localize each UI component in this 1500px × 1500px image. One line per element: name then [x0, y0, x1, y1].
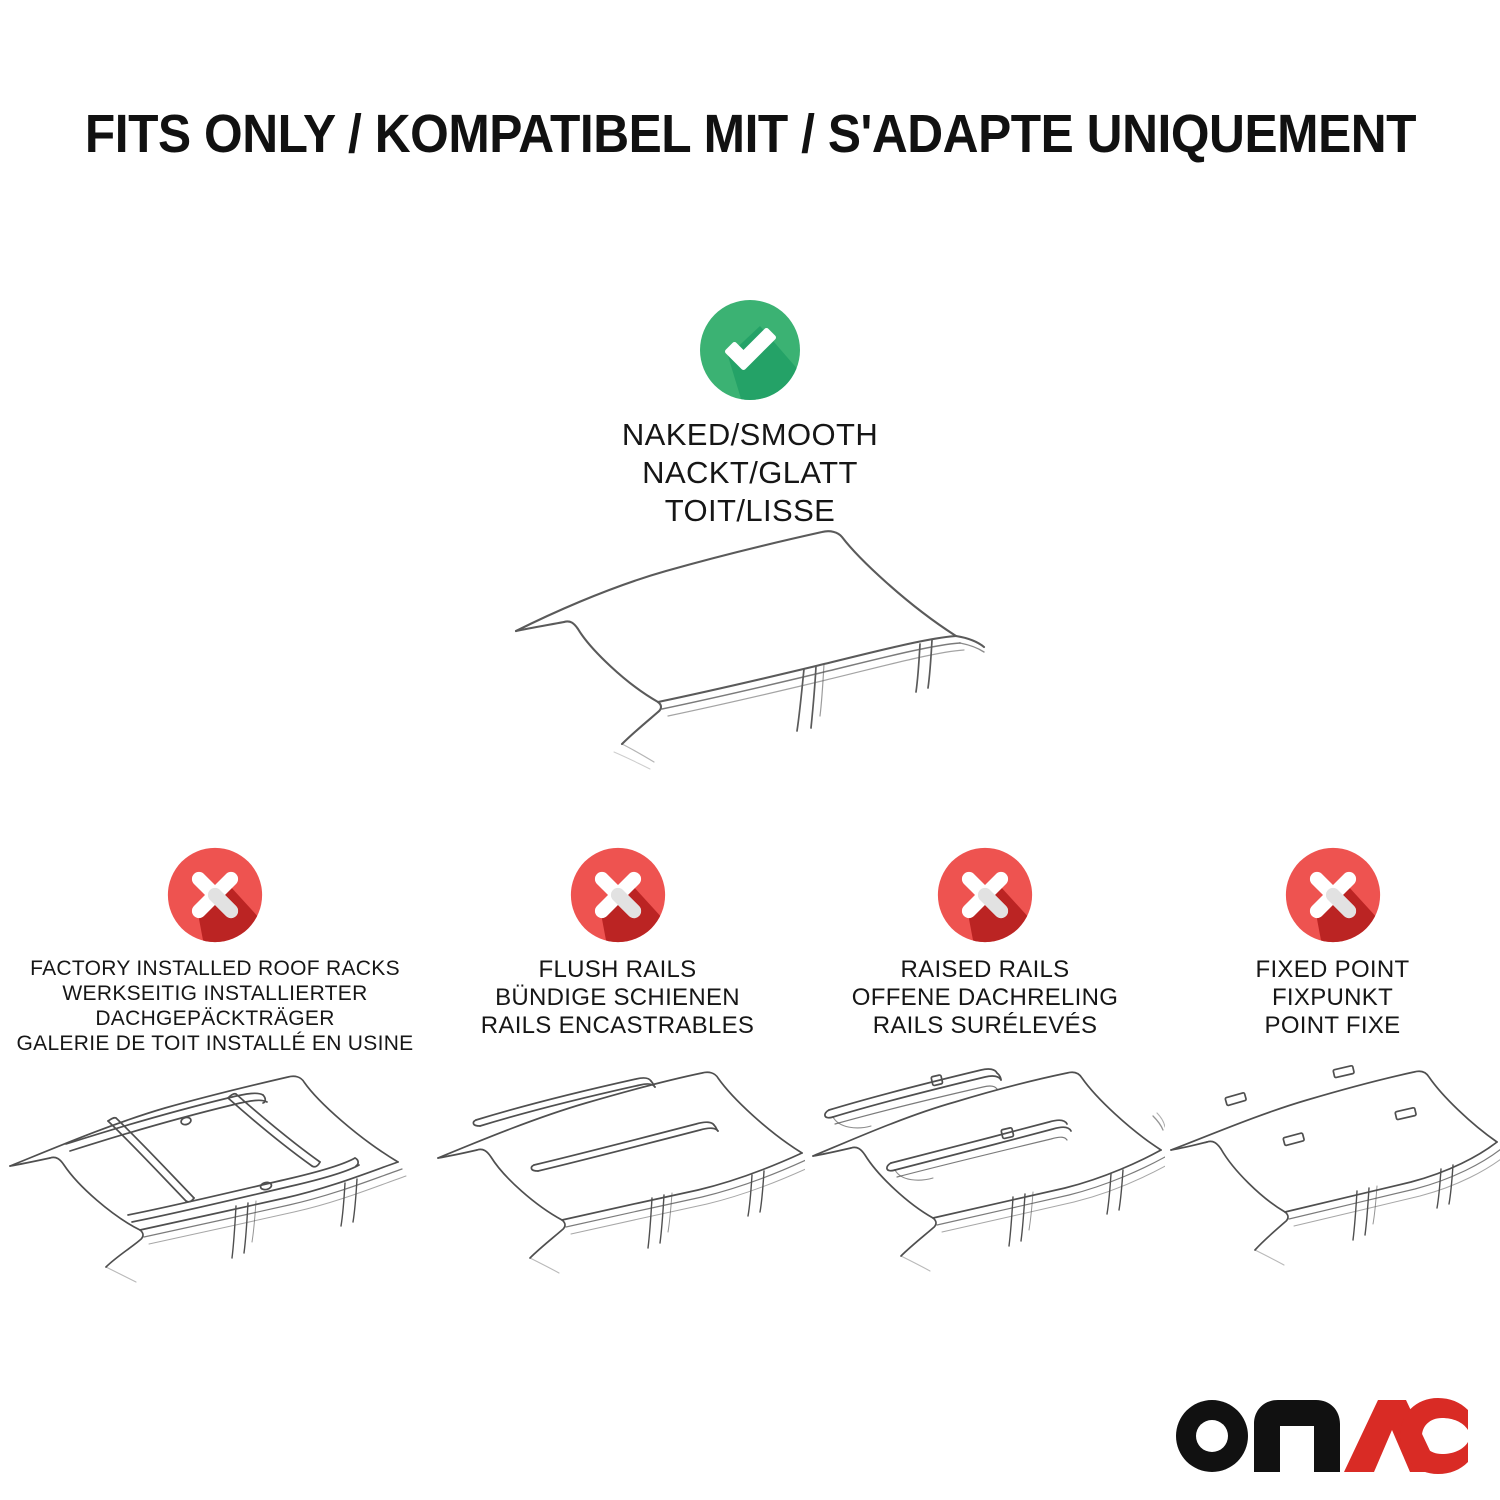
incompatible-illustrations-row [0, 1058, 1500, 1288]
incompatible-label-de-2: DACHGEPÄCKTRÄGER [17, 1006, 414, 1031]
x-circle-icon [166, 846, 264, 944]
incompatible-labels: FACTORY INSTALLED ROOF RACKS WERKSEITIG … [17, 956, 414, 1056]
page-title: FITS ONLY / KOMPATIBEL MIT / S'ADAPTE UN… [0, 104, 1500, 164]
incompatible-label-fr: POINT FIXE [1256, 1012, 1410, 1040]
incompatible-label-en: RAISED RAILS [852, 956, 1118, 984]
incompatible-label-fr: RAILS SURÉLEVÉS [852, 1012, 1118, 1040]
x-circle-icon [1284, 846, 1382, 944]
compatible-label-de: NACKT/GLATT [0, 454, 1500, 492]
car-roof-factory-rack-illustration [0, 1058, 430, 1288]
incompatible-labels: FIXED POINT FIXPUNKT POINT FIXE [1256, 956, 1410, 1040]
incompatible-label-fr: RAILS ENCASTRABLES [481, 1012, 755, 1040]
incompatible-labels: FLUSH RAILS BÜNDIGE SCHIENEN RAILS ENCAS… [481, 956, 755, 1040]
compatible-section: NAKED/SMOOTH NACKT/GLATT TOIT/LISSE [0, 298, 1500, 530]
car-roof-flush-rails-illustration [430, 1058, 805, 1288]
incompatible-label-de: FIXPUNKT [1256, 984, 1410, 1012]
x-circle-icon [936, 846, 1034, 944]
compatible-labels: NAKED/SMOOTH NACKT/GLATT TOIT/LISSE [0, 416, 1500, 530]
incompatible-label-en: FLUSH RAILS [481, 956, 755, 984]
logo-letter-c [1400, 1398, 1468, 1474]
compatible-label-en: NAKED/SMOOTH [0, 416, 1500, 454]
incompatible-label-de: OFFENE DACHRELING [852, 984, 1118, 1012]
logo-letter-o [1176, 1400, 1248, 1472]
check-circle-icon [698, 298, 802, 402]
car-roof-fixed-point-illustration [1165, 1058, 1500, 1288]
incompatible-labels: RAISED RAILS OFFENE DACHRELING RAILS SUR… [852, 956, 1118, 1040]
car-roof-raised-rails-illustration [805, 1058, 1165, 1288]
logo-letter-m [1254, 1400, 1340, 1472]
omac-logo: OMAC [1168, 1386, 1468, 1478]
incompatible-label-de: BÜNDIGE SCHIENEN [481, 984, 755, 1012]
incompatible-label-en: FACTORY INSTALLED ROOF RACKS [17, 956, 414, 981]
car-roof-naked-smooth-illustration [486, 516, 1026, 816]
x-circle-icon [569, 846, 667, 944]
incompatible-label-en: FIXED POINT [1256, 956, 1410, 984]
incompatible-label-de-1: WERKSEITIG INSTALLIERTER [17, 981, 414, 1006]
incompatible-label-fr: GALERIE DE TOIT INSTALLÉ EN USINE [17, 1031, 414, 1056]
page-title-text: FITS ONLY / KOMPATIBEL MIT / S'ADAPTE UN… [84, 104, 1415, 164]
